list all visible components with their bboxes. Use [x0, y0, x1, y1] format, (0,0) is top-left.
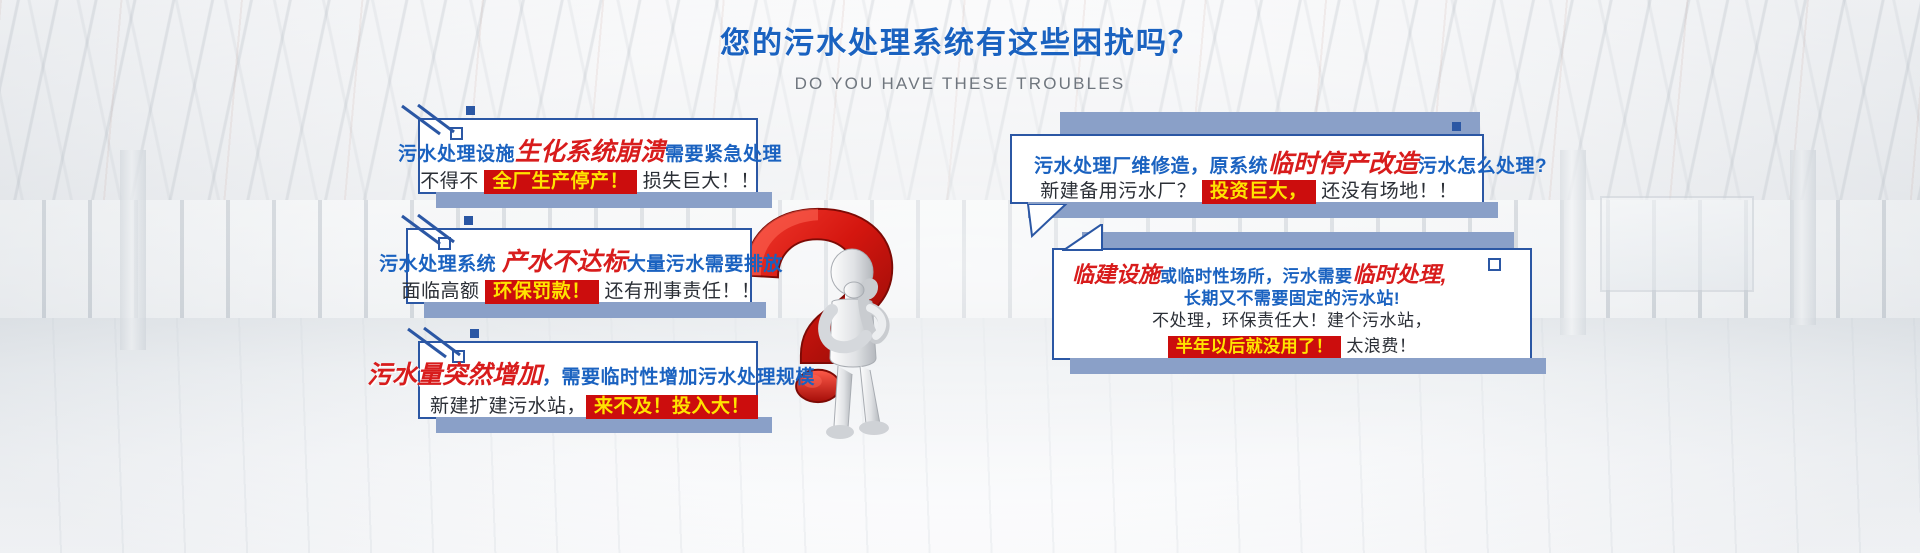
- decor-square-solid: [1452, 122, 1461, 131]
- page-title: 您的污水处理系统有这些困扰吗？: [0, 18, 1920, 62]
- box-shadow: [436, 417, 772, 433]
- text-segment: 太浪费！: [1341, 336, 1416, 355]
- highlight-phrase: 临时处理,: [1353, 262, 1447, 287]
- speech-tail: [1062, 224, 1106, 252]
- trouble-box-2-line1: 污水处理系统 产水不达标大量污水需要排放: [348, 250, 814, 275]
- warning-tag: 全厂生产停产！: [484, 170, 637, 194]
- highlight-phrase: 污水量突然增加: [367, 361, 542, 389]
- trouble-box-4: 污水处理厂维修造，原系统临时停产改造污水怎么处理? 新建备用污水厂？ 投资巨大，…: [1010, 134, 1484, 204]
- trouble-box-1-line1: 污水处理设施生化系统崩溃需要紧急处理: [356, 140, 824, 165]
- trouble-box-3-line2: 新建扩建污水站，来不及！投入大！: [384, 395, 804, 419]
- trouble-box-5-line4: 半年以后就没用了！ 太浪费！: [1054, 336, 1530, 358]
- text-segment: 污水处理设施: [398, 144, 515, 165]
- text-segment: 或临时性场所，污水需要: [1160, 267, 1353, 286]
- text-segment: 需要紧急处理: [665, 144, 782, 165]
- trouble-box-4-line1: 污水处理厂维修造，原系统临时停产改造污水怎么处理?: [1034, 152, 1547, 177]
- highlight-phrase: 临建设施: [1072, 262, 1160, 287]
- text-segment: 还有刑事责任！！: [599, 281, 761, 302]
- warning-tag: 来不及！投入大！: [586, 395, 758, 419]
- highlight-phrase: 生化系统崩溃: [515, 138, 665, 166]
- text-segment: 不得不: [420, 171, 484, 192]
- trouble-box-2-line2: 面临高额 环保罚款！ 还有刑事责任！！: [368, 280, 794, 304]
- trouble-box-5-line3: 不处理，环保责任大！建个污水站，: [1054, 312, 1530, 329]
- header: 您的污水处理系统有这些困扰吗？ DO YOU HAVE THESE TROUBL…: [0, 18, 1920, 94]
- thinking-person-icon: [800, 248, 910, 443]
- box-shadow: [1028, 202, 1498, 218]
- warning-tag: 投资巨大，: [1202, 180, 1316, 204]
- highlight-phrase: 产水不达标: [502, 248, 627, 276]
- trouble-box-3-line1: 污水量突然增加，需要临时性增加污水处理规模: [366, 363, 816, 388]
- box-shadow: [436, 192, 772, 208]
- highlight-phrase: 临时停产改造: [1268, 150, 1418, 178]
- text-segment: 污水处理系统: [379, 254, 502, 275]
- warning-tag: 环保罚款！: [485, 280, 599, 304]
- decor-square-solid: [470, 329, 479, 338]
- trouble-box-1-line2: 不得不 全厂生产停产！ 损失巨大！！: [376, 170, 804, 194]
- text-segment: 面临高额: [401, 281, 485, 302]
- text-segment: 损失巨大！！: [637, 171, 760, 192]
- box-shadow: [424, 302, 766, 318]
- trouble-box-1: 污水处理设施生化系统崩溃需要紧急处理 不得不 全厂生产停产！ 损失巨大！！: [418, 118, 758, 194]
- text-segment: 大量污水需要排放: [627, 254, 783, 275]
- trouble-box-5-line1: 临建设施或临时性场所，污水需要临时处理,: [1072, 264, 1447, 286]
- warning-tag: 半年以后就没用了！: [1168, 336, 1342, 358]
- text-segment: 新建扩建污水站，: [430, 396, 586, 417]
- box-shadow: [1070, 358, 1546, 374]
- decor-square-solid: [464, 216, 473, 225]
- trouble-box-5: 临建设施或临时性场所，污水需要临时处理, 长期又不需要固定的污水站! 不处理，环…: [1052, 248, 1532, 360]
- trouble-box-3: 污水量突然增加，需要临时性增加污水处理规模 新建扩建污水站，来不及！投入大！: [418, 341, 758, 419]
- text-segment: 长期又不需要固定的污水站!: [1184, 289, 1400, 308]
- trouble-box-2: 污水处理系统 产水不达标大量污水需要排放 面临高额 环保罚款！ 还有刑事责任！！: [406, 228, 752, 304]
- page-subtitle: DO YOU HAVE THESE TROUBLES: [0, 74, 1920, 94]
- text-segment: 污水处理厂维修造，原系统: [1034, 156, 1268, 177]
- text-segment: 不处理，环保责任大！建个污水站，: [1152, 311, 1432, 330]
- decor-square-solid: [466, 106, 475, 115]
- text-segment: 污水怎么处理?: [1418, 156, 1547, 177]
- trouble-box-4-line2: 新建备用污水厂？ 投资巨大， 还没有场地！！: [1024, 180, 1474, 204]
- text-segment: 还没有场地！！: [1316, 181, 1458, 202]
- decor-square-outline: [438, 237, 451, 250]
- decor-square-outline: [450, 127, 463, 140]
- decor-square-outline: [1488, 258, 1501, 271]
- trouble-box-5-line2: 长期又不需要固定的污水站!: [1054, 290, 1530, 307]
- text-segment: 新建备用污水厂？: [1040, 181, 1202, 202]
- banner-stage: 您的污水处理系统有这些困扰吗？ DO YOU HAVE THESE TROUBL…: [0, 0, 1920, 553]
- text-segment: ，需要临时性增加污水处理规模: [542, 367, 815, 388]
